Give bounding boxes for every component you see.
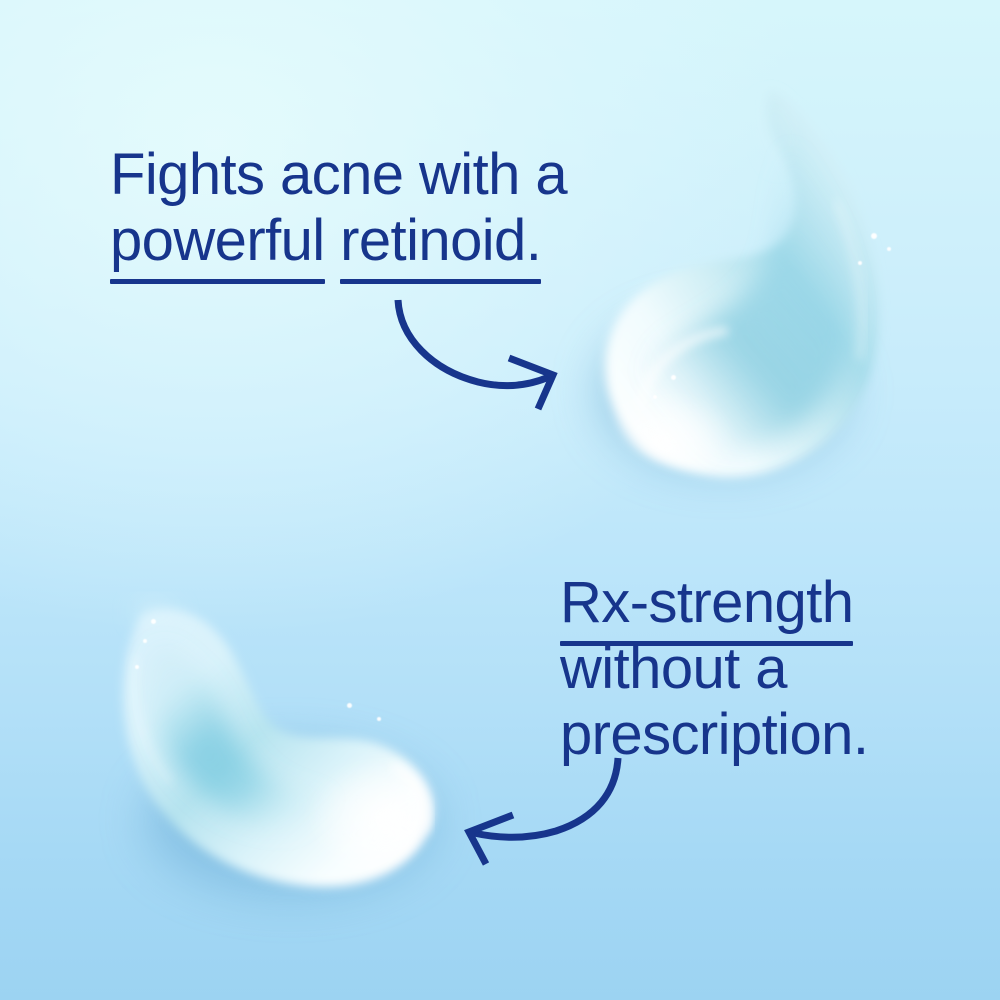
gel-sparkle bbox=[347, 703, 352, 708]
arrow-to-lower-blob bbox=[469, 758, 618, 864]
retinoid-claim-line-2: powerful retinoid. bbox=[110, 208, 630, 274]
gel-swatch-lower-left-shape bbox=[95, 575, 465, 905]
rx-claim-line-1: Rx-strength bbox=[560, 570, 960, 636]
retinoid-claim-headline: Fights acne with a powerful retinoid. bbox=[110, 142, 630, 274]
rx-strength-claim-headline: Rx-strength without a prescription. bbox=[560, 570, 960, 768]
gel-swatch-lower-left bbox=[95, 575, 465, 905]
rx-claim-line-2: without a bbox=[560, 636, 960, 702]
underlined-word-retinoid: retinoid. bbox=[340, 208, 541, 274]
gel-sparkle bbox=[653, 395, 657, 399]
gel-sparkle bbox=[858, 261, 862, 265]
gel-sparkle bbox=[135, 665, 139, 669]
gel-sparkle bbox=[671, 375, 676, 380]
rx-claim-line-3: prescription. bbox=[560, 702, 960, 768]
gel-sparkle bbox=[151, 619, 156, 624]
gel-sparkle bbox=[377, 717, 381, 721]
gel-sparkle bbox=[143, 639, 147, 643]
word-space bbox=[325, 208, 341, 273]
retinoid-claim-line-1: Fights acne with a bbox=[110, 142, 630, 208]
gel-sparkle bbox=[887, 247, 891, 251]
arrow-to-upper-blob bbox=[398, 300, 553, 409]
underlined-word-rx-strength: Rx-strength bbox=[560, 570, 853, 636]
gel-swatch-upper-right-shape bbox=[575, 75, 945, 505]
promo-canvas: Fights acne with a powerful retinoid. Rx… bbox=[0, 0, 1000, 1000]
underlined-word-powerful: powerful bbox=[110, 208, 325, 274]
gel-sparkle bbox=[871, 233, 877, 239]
gel-swatch-upper-right bbox=[575, 75, 945, 505]
